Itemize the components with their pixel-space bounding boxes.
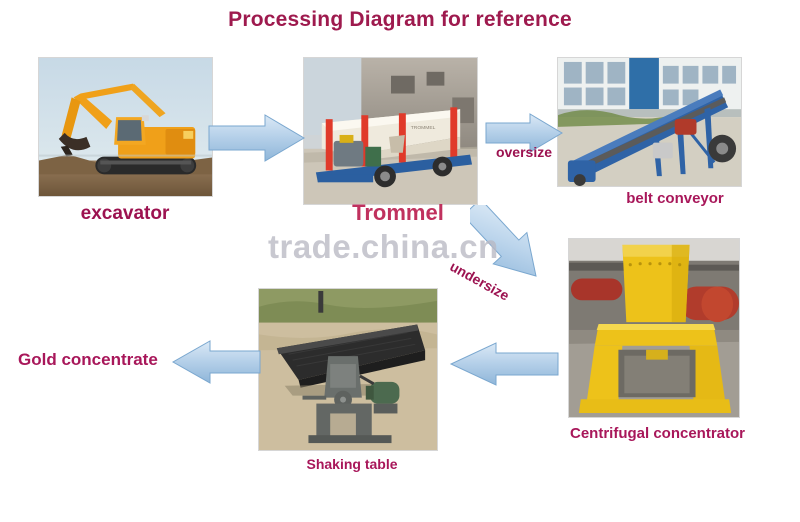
caption-centrifugal-concentrator: Centrifugal concentrator (540, 425, 775, 442)
page-title: Processing Diagram for reference (0, 8, 800, 32)
centrifugal-concentrator-photo (568, 238, 740, 418)
caption-trommel: Trommel (318, 200, 478, 226)
arrow-centrifugal-to-shaking-table (448, 340, 560, 388)
shaking-table-photo (258, 288, 438, 451)
excavator-photo (38, 57, 213, 197)
trommel-photo: TROMMEL (303, 57, 478, 205)
caption-belt-conveyor: belt conveyor (590, 190, 760, 207)
arrow-excavator-to-trommel (207, 112, 307, 164)
watermark-text: trade.china.cn (268, 228, 499, 266)
caption-excavator: excavator (40, 203, 210, 225)
arrow-shaking-table-to-gold-concentrate (170, 338, 262, 386)
label-oversize: oversize (476, 144, 572, 160)
caption-shaking-table: Shaking table (262, 456, 442, 472)
belt-conveyor-photo (557, 57, 742, 187)
diagram-canvas: Processing Diagram for reference (0, 0, 800, 522)
svg-text:TROMMEL: TROMMEL (411, 125, 436, 131)
label-gold-concentrate: Gold concentrate (18, 350, 173, 370)
